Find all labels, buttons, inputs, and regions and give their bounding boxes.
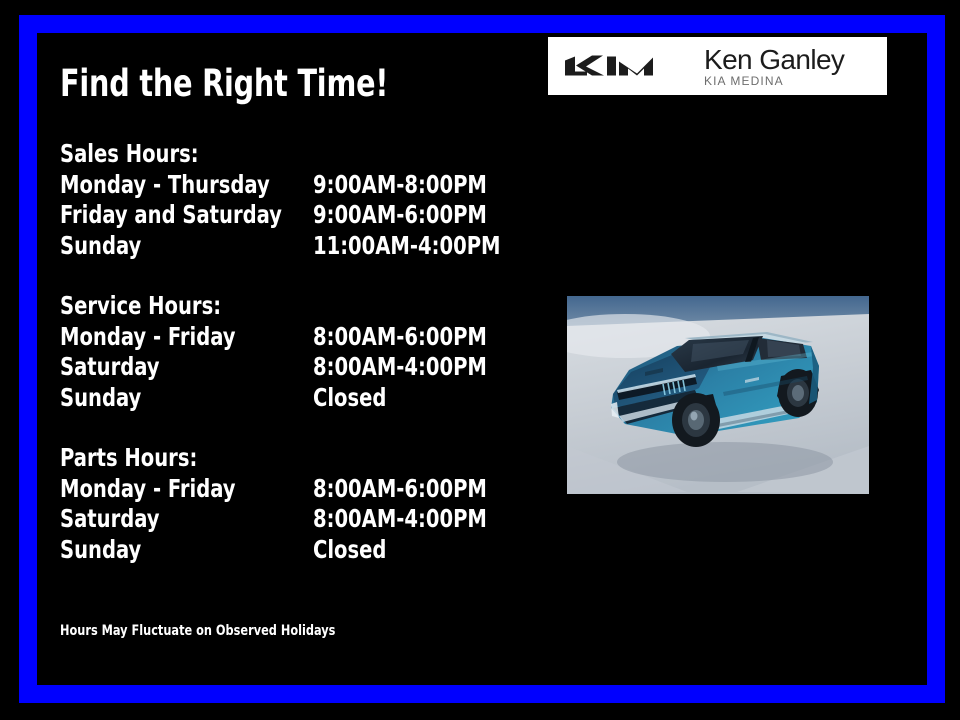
section-heading-sales: Sales Hours:	[60, 139, 530, 170]
hours-row: Sunday Closed	[60, 535, 530, 566]
time-label: 8:00AM-4:00PM	[313, 504, 487, 535]
hours-row: Monday - Friday 8:00AM-6:00PM	[60, 322, 530, 353]
dealer-name: Ken Ganley	[704, 45, 844, 74]
hours-row: Monday - Thursday 9:00AM-8:00PM	[60, 170, 530, 201]
section-heading-label: Sales Hours:	[60, 139, 199, 170]
hours-section-service: Service Hours: Monday - Friday 8:00AM-6:…	[60, 291, 530, 413]
hours-row: Friday and Saturday 9:00AM-6:00PM	[60, 200, 530, 231]
day-label: Saturday	[60, 352, 160, 383]
time-label: 8:00AM-6:00PM	[313, 322, 487, 353]
time-label: 9:00AM-6:00PM	[313, 200, 487, 231]
section-heading-label: Parts Hours:	[60, 443, 197, 474]
day-label: Sunday	[60, 535, 141, 566]
hours-row: Saturday 8:00AM-4:00PM	[60, 352, 530, 383]
time-label: Closed	[313, 383, 386, 414]
day-label: Monday - Thursday	[60, 170, 270, 201]
kia-logo-icon	[564, 51, 682, 81]
day-label: Friday and Saturday	[60, 200, 282, 231]
day-label: Monday - Friday	[60, 474, 236, 505]
day-label: Sunday	[60, 383, 141, 414]
time-label: 8:00AM-4:00PM	[313, 352, 487, 383]
time-label: 8:00AM-6:00PM	[313, 474, 487, 505]
day-label: Sunday	[60, 231, 141, 262]
slide-canvas: Find the Right Time! Sales Hours: Monday…	[0, 0, 960, 720]
section-heading-parts: Parts Hours:	[60, 443, 530, 474]
dealer-name-block: Ken Ganley KIA MEDINA	[704, 45, 844, 88]
hours-section-sales: Sales Hours: Monday - Thursday 9:00AM-8:…	[60, 139, 530, 261]
vehicle-photo	[567, 296, 869, 494]
day-label: Saturday	[60, 504, 160, 535]
hours-list: Sales Hours: Monday - Thursday 9:00AM-8:…	[60, 139, 530, 565]
hours-row: Sunday Closed	[60, 383, 530, 414]
time-label: 9:00AM-8:00PM	[313, 170, 487, 201]
hours-row: Saturday 8:00AM-4:00PM	[60, 504, 530, 535]
dealer-subtitle: KIA MEDINA	[704, 74, 844, 88]
day-label: Monday - Friday	[60, 322, 236, 353]
holiday-disclaimer-label: Hours May Fluctuate on Observed Holidays	[60, 623, 335, 639]
page-title: Find the Right Time!	[60, 62, 388, 105]
dealer-logo-lockup: Ken Ganley KIA MEDINA	[548, 37, 887, 95]
time-label: 11:00AM-4:00PM	[313, 231, 501, 262]
hours-section-parts: Parts Hours: Monday - Friday 8:00AM-6:00…	[60, 443, 530, 565]
hours-row: Sunday 11:00AM-4:00PM	[60, 231, 530, 262]
section-heading-label: Service Hours:	[60, 291, 221, 322]
time-label: Closed	[313, 535, 386, 566]
holiday-disclaimer: Hours May Fluctuate on Observed Holidays	[60, 623, 366, 639]
hours-row: Monday - Friday 8:00AM-6:00PM	[60, 474, 530, 505]
section-heading-service: Service Hours:	[60, 291, 530, 322]
